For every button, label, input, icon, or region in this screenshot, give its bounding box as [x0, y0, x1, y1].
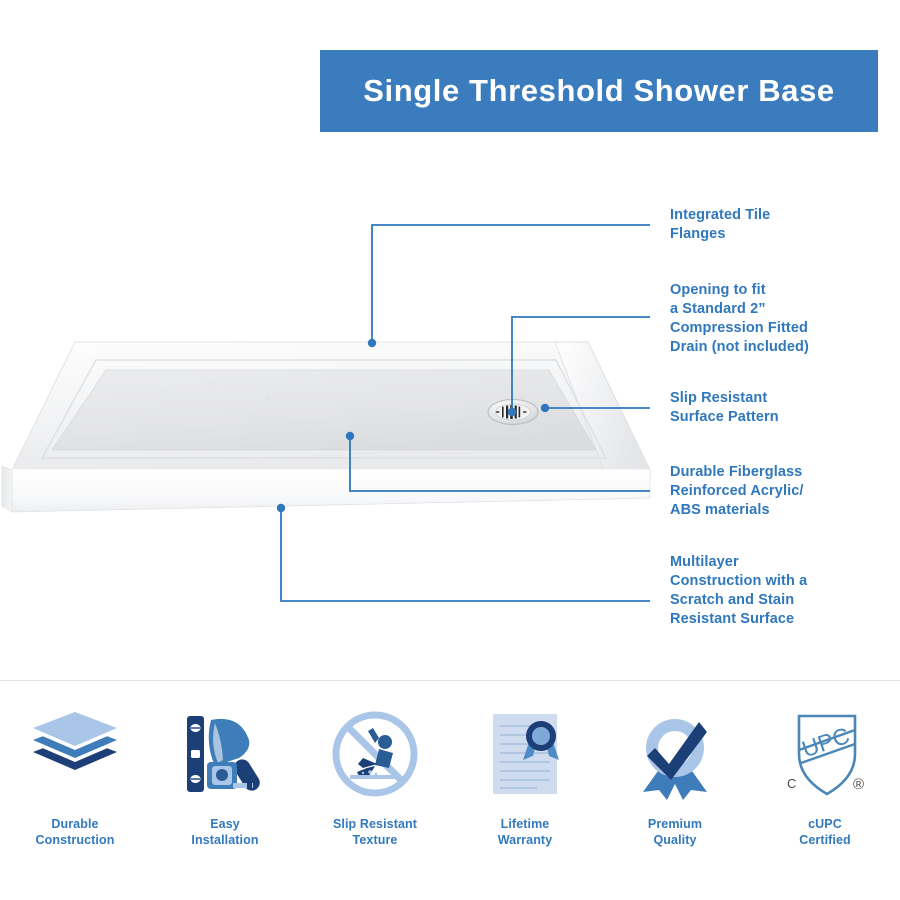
base-front-apron: [12, 470, 650, 512]
callout-label-durable-fiberglass-materials: Durable Fiberglass Reinforced Acrylic/ A…: [670, 463, 900, 520]
layers-icon: [25, 700, 125, 808]
callout-label-slip-resistant-surface-pattern: Slip Resistant Surface Pattern: [670, 389, 900, 427]
cupc-shield-icon: UPC C ®: [775, 700, 875, 808]
feature-cupc-certified: UPC C ® cUPC Certified: [750, 700, 900, 870]
feature-durable-construction: Durable Construction: [0, 700, 150, 870]
shower-base-drawing: [0, 320, 660, 540]
feature-lifetime-warranty: Lifetime Warranty: [450, 700, 600, 870]
product-illustration: [0, 320, 660, 540]
features-row: Durable Construction: [0, 700, 900, 870]
feature-premium-quality: Premium Quality: [600, 700, 750, 870]
feature-label: cUPC Certified: [799, 816, 851, 848]
callout-label-multilayer-construction: Multilayer Construction with a Scratch a…: [670, 553, 900, 629]
callout-label-standard-drain-opening: Opening to fit a Standard 2” Compression…: [670, 281, 900, 357]
callout-label-integrated-tile-flanges: Integrated Tile Flanges: [670, 206, 900, 244]
quality-ribbon-icon: [625, 700, 725, 808]
header-banner: Single Threshold Shower Base: [320, 50, 878, 132]
warranty-doc-icon: [475, 700, 575, 808]
base-left-side: [2, 466, 12, 512]
feature-label: Lifetime Warranty: [498, 816, 553, 848]
feature-label: Easy Installation: [191, 816, 258, 848]
feature-easy-installation: Easy Installation: [150, 700, 300, 870]
feature-label: Slip Resistant Texture: [333, 816, 417, 848]
feature-label: Premium Quality: [648, 816, 702, 848]
feature-label: Durable Construction: [36, 816, 115, 848]
feature-slip-resistant-texture: Slip Resistant Texture: [300, 700, 450, 870]
drain-grate: [488, 400, 538, 425]
level-trowel-icon: [175, 700, 275, 808]
svg-text:®: ®: [853, 776, 864, 793]
page-title: Single Threshold Shower Base: [363, 73, 835, 109]
product-infographic: Single Threshold Shower Base: [0, 0, 900, 900]
svg-text:C: C: [787, 776, 796, 791]
features-divider: [0, 680, 900, 681]
no-slip-icon: [325, 700, 425, 808]
